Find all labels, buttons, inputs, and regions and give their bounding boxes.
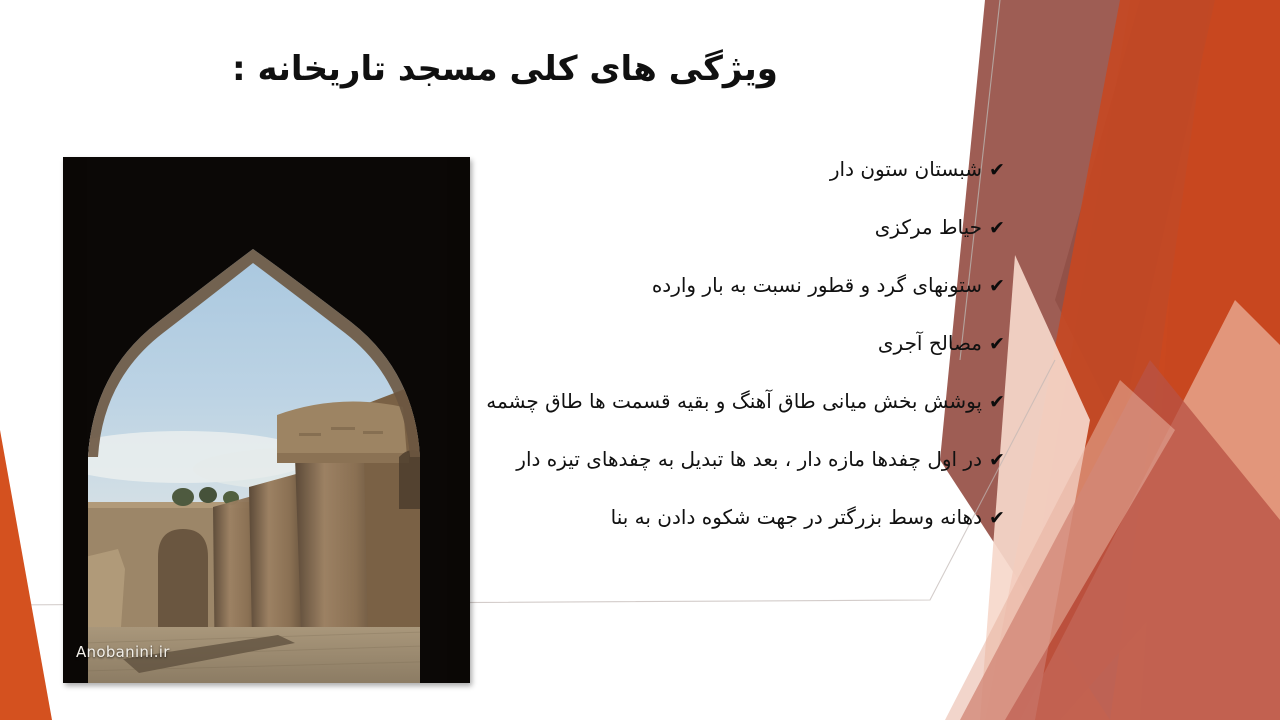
list-item-label: دهانه وسط بزرگتر در جهت شکوه دادن به بنا — [272, 504, 982, 531]
check-icon: ✔ — [982, 451, 1012, 470]
list-item-label: در اول چفدها مازه دار ، بعد ها تبدیل به … — [272, 446, 982, 473]
list-item-label: مصالح آجری — [272, 330, 982, 357]
list-item: ✔ ستونهای گرد و قطور نسبت به بار وارده — [272, 272, 1012, 299]
deco-shape-orange-right — [1010, 0, 1280, 720]
list-item-label: حیاط مرکزی — [272, 214, 982, 241]
list-item: ✔ دهانه وسط بزرگتر در جهت شکوه دادن به ب… — [272, 504, 1012, 531]
feature-list: ✔ شبستان ستون دار ✔ حیاط مرکزی ✔ ستونهای… — [272, 156, 1012, 562]
list-item-label: ستونهای گرد و قطور نسبت به بار وارده — [272, 272, 982, 299]
list-item: ✔ مصالح آجری — [272, 330, 1012, 357]
page-title: ویژگی های کلی مسجد تاریخانه : — [0, 48, 1010, 91]
deco-shape-orange-left — [0, 430, 52, 720]
check-icon: ✔ — [982, 161, 1012, 180]
deco-shape-brown-dark — [1055, 0, 1215, 430]
slide-canvas: ویژگی های کلی مسجد تاریخانه : — [0, 0, 1280, 720]
list-item-label: پوشش بخش میانی طاق آهنگ و بقیه قسمت ها ط… — [272, 388, 982, 415]
list-item: ✔ پوشش بخش میانی طاق آهنگ و بقیه قسمت ها… — [272, 388, 1012, 415]
list-item: ✔ حیاط مرکزی — [272, 214, 1012, 241]
photo-watermark: Anobanini.ir — [76, 643, 170, 661]
list-item-label: شبستان ستون دار — [272, 156, 982, 183]
list-item: ✔ در اول چفدها مازه دار ، بعد ها تبدیل ب… — [272, 446, 1012, 473]
deco-shape-blush — [1020, 300, 1280, 720]
check-icon: ✔ — [982, 219, 1012, 238]
check-icon: ✔ — [982, 335, 1012, 354]
list-item: ✔ شبستان ستون دار — [272, 156, 1012, 183]
deco-shape-orange-far — [1140, 0, 1280, 720]
check-icon: ✔ — [982, 509, 1012, 528]
check-icon: ✔ — [982, 277, 1012, 296]
deco-shape-orange-cross — [985, 0, 1280, 720]
check-icon: ✔ — [982, 393, 1012, 412]
